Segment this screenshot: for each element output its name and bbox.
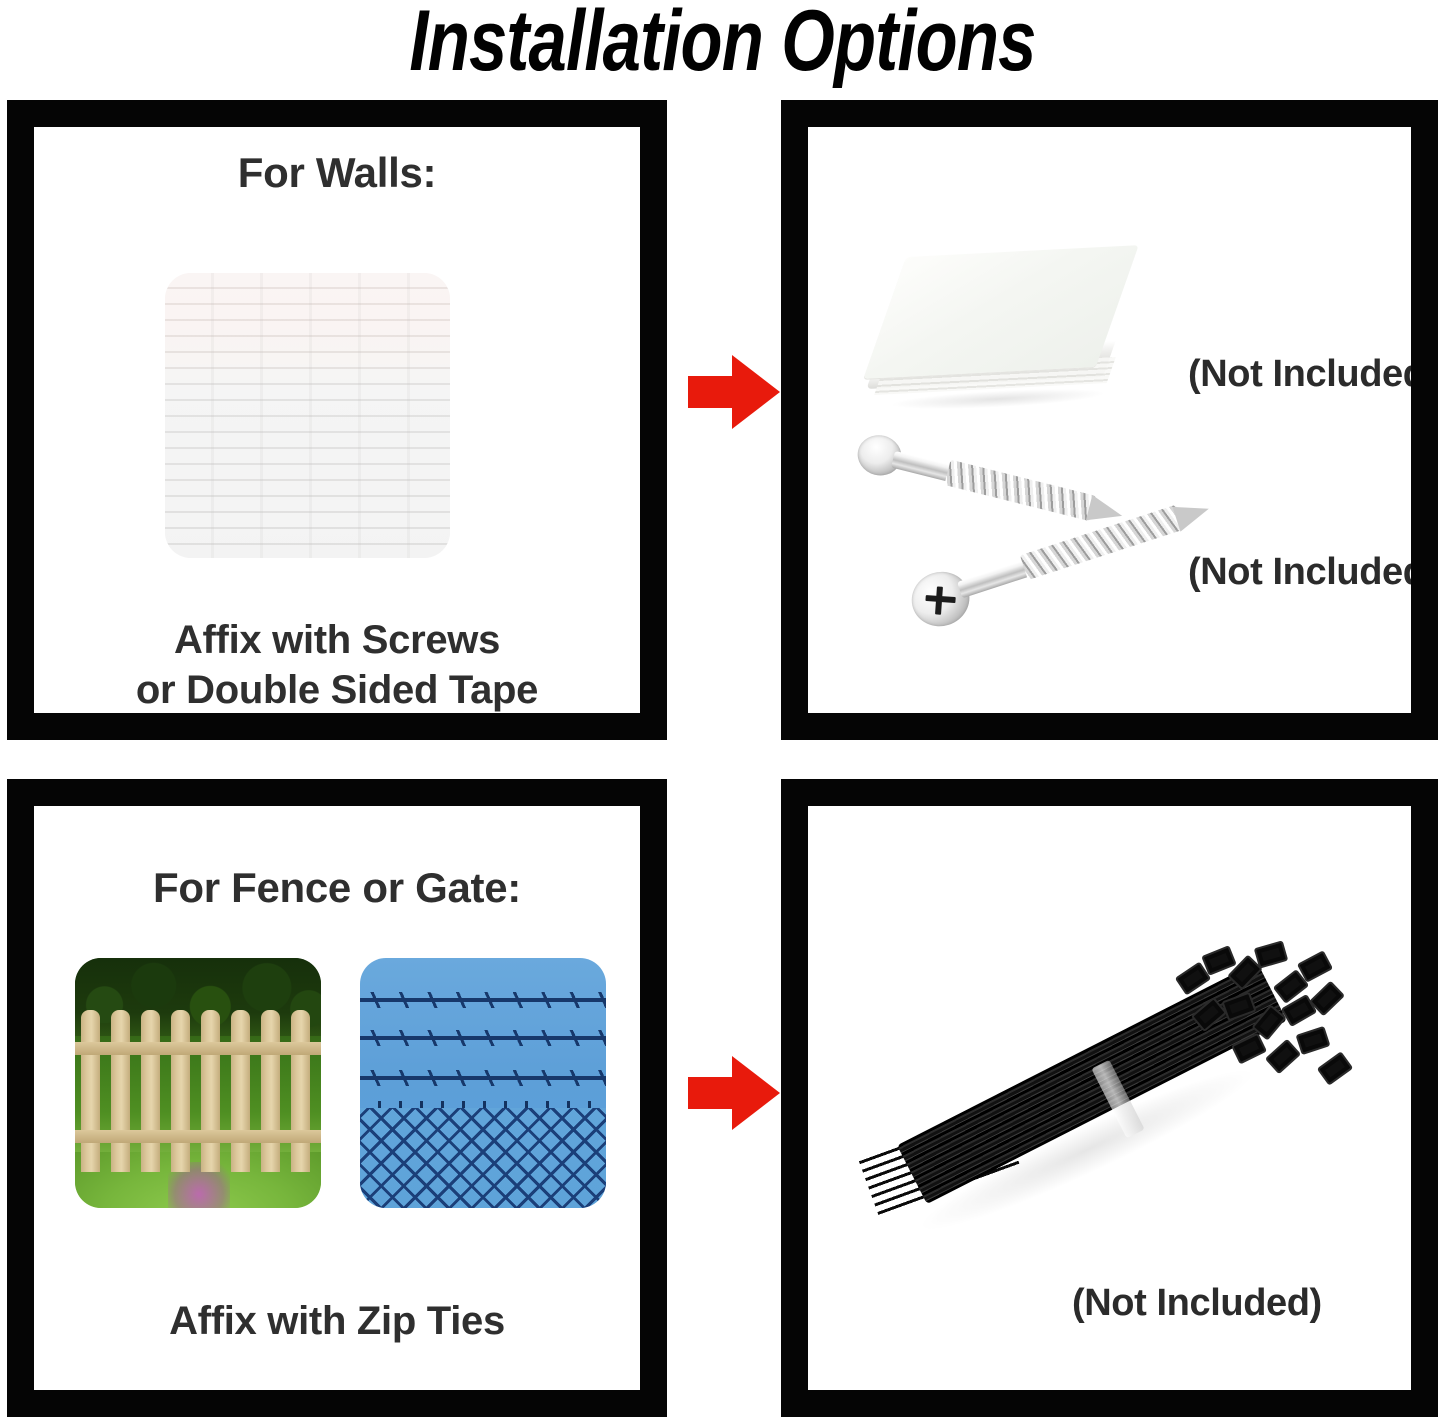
arrow-head [732, 1056, 780, 1130]
chain-link-barbed-wire-image [360, 958, 606, 1208]
zip-tie-head [1254, 940, 1289, 968]
for-walls-caption-line1: Affix with Screws [34, 615, 640, 665]
fence-rail-upper [75, 1042, 321, 1055]
screw-head-lower [905, 564, 977, 633]
for-walls-heading: For Walls: [34, 149, 640, 197]
zip-tie-head [1265, 1039, 1301, 1075]
screw-tip-lower [1172, 496, 1212, 531]
screw-shank-lower [957, 559, 1033, 598]
screw-thread-lower [1020, 505, 1184, 580]
zip-ties-not-included-label: (Not Included) [1072, 1282, 1322, 1325]
zip-tie-head [1231, 1032, 1267, 1064]
picket [201, 1010, 220, 1172]
panel-wall-hardware-content: (Not Included) (Not Included) [808, 127, 1411, 713]
panel-for-fence-content: For Fence or Gate: [34, 806, 640, 1390]
wooden-picket-fence-image [75, 958, 321, 1208]
zip-tie-head [1317, 1051, 1354, 1086]
picket [141, 1010, 160, 1172]
chain-link-mesh [360, 1108, 606, 1208]
barbed-wire-strand [360, 998, 606, 1002]
panel-for-walls-content: For Walls: Affix with Screws or Double S… [34, 127, 640, 713]
barbed-wire-strand [360, 1036, 606, 1040]
panel-for-walls: For Walls: Affix with Screws or Double S… [7, 100, 667, 740]
arrow-head [732, 355, 780, 429]
panel-zip-ties-content: (Not Included) [808, 806, 1411, 1390]
white-brick-wall-image [165, 273, 450, 558]
zip-tie-head [1295, 1026, 1330, 1055]
double-sided-tape-stack-image [875, 251, 1125, 416]
picket [111, 1010, 130, 1172]
zip-tie-heads [1172, 942, 1350, 1102]
phillips-cross-vertical [935, 586, 943, 614]
for-fence-heading: For Fence or Gate: [34, 864, 640, 912]
panel-for-fence-or-gate: For Fence or Gate: [7, 779, 667, 1417]
picket [261, 1010, 280, 1172]
picket [291, 1010, 310, 1172]
panel-wall-hardware: (Not Included) (Not Included) [781, 100, 1438, 740]
barbed-wire-strand [360, 1076, 606, 1080]
picket [171, 1010, 190, 1172]
zip-tie-head [1221, 992, 1256, 1022]
fence-pickets [75, 1010, 321, 1172]
for-walls-caption-line2: or Double Sided Tape [34, 665, 640, 713]
black-zip-ties-bundle-image [872, 932, 1352, 1312]
tape-not-included-label: (Not Included) [1188, 353, 1411, 396]
screws-not-included-label: (Not Included) [1188, 551, 1411, 594]
for-fence-caption: Affix with Zip Ties [34, 1296, 640, 1346]
red-right-arrow-bottom [688, 1056, 780, 1130]
picket [231, 1010, 250, 1172]
red-right-arrow-top [688, 355, 780, 429]
picket [81, 1010, 100, 1172]
panel-zip-ties: (Not Included) [781, 779, 1438, 1417]
tape-stack-top [863, 245, 1138, 379]
page-title: Installation Options [145, 0, 1301, 86]
fence-rail-lower [75, 1130, 321, 1143]
